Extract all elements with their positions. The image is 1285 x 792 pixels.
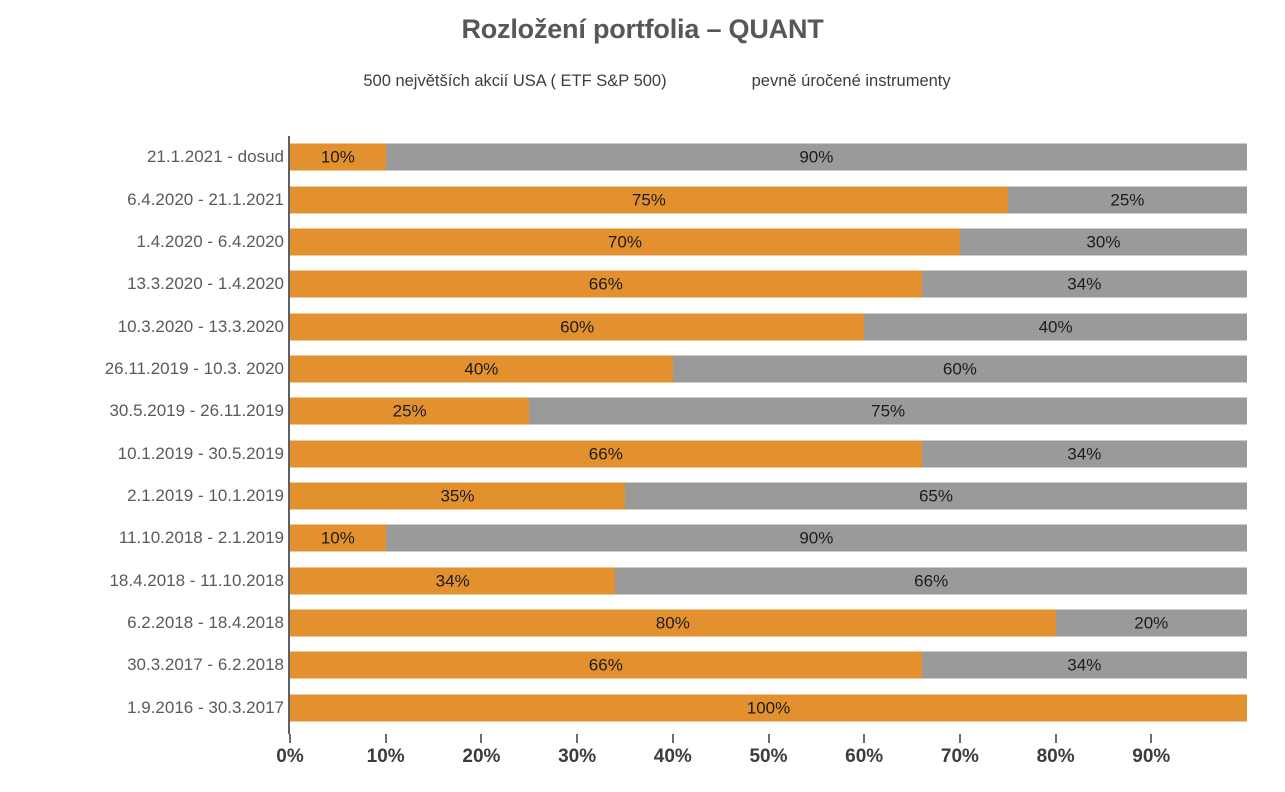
category-label: 1.9.2016 - 30.3.2017 — [127, 698, 284, 718]
stacked-bar: 25%75% — [290, 398, 1247, 425]
x-axis-tick — [289, 734, 291, 743]
value-label-fixed-income: 40% — [1039, 318, 1073, 335]
value-label-equities: 10% — [321, 530, 355, 547]
bar-row: 10.3.2020 - 13.3.202060%40% — [0, 305, 1285, 347]
stacked-bar: 60%40% — [290, 313, 1247, 340]
plot-area: 21.1.2021 - dosud10%90%6.4.2020 - 21.1.2… — [0, 132, 1285, 734]
category-label: 2.1.2019 - 10.1.2019 — [127, 486, 284, 506]
bar-segment-equities[interactable]: 80% — [290, 610, 1056, 637]
bar-segment-equities[interactable]: 10% — [290, 144, 386, 171]
stacked-bar: 100% — [290, 694, 1247, 721]
bar-row: 2.1.2019 - 10.1.201935%65% — [0, 475, 1285, 517]
bar-segment-fixed-income[interactable]: 30% — [960, 228, 1247, 255]
value-label-equities: 66% — [589, 276, 623, 293]
value-label-fixed-income: 30% — [1086, 233, 1120, 250]
x-axis-tick-label: 10% — [367, 746, 405, 768]
bar-row: 30.5.2019 - 26.11.201925%75% — [0, 390, 1285, 432]
bar-segment-equities[interactable]: 75% — [290, 186, 1008, 213]
value-label-fixed-income: 90% — [799, 530, 833, 547]
category-label: 10.1.2019 - 30.5.2019 — [118, 444, 284, 464]
category-label: 21.1.2021 - dosud — [147, 147, 284, 167]
stacked-bar: 10%90% — [290, 525, 1247, 552]
category-label: 1.4.2020 - 6.4.2020 — [137, 232, 284, 252]
value-label-equities: 10% — [321, 149, 355, 166]
bar-segment-equities[interactable]: 66% — [290, 271, 922, 298]
stacked-bar: 70%30% — [290, 228, 1247, 255]
stacked-bar: 66%34% — [290, 652, 1247, 679]
stacked-bar: 66%34% — [290, 271, 1247, 298]
stacked-bar: 66%34% — [290, 440, 1247, 467]
value-label-equities: 66% — [589, 445, 623, 462]
legend-item-fixed-income[interactable]: pevně úročené instrumenty — [723, 72, 951, 91]
chart-title: Rozložení portfolia – QUANT — [0, 14, 1285, 45]
bar-segment-fixed-income[interactable]: 60% — [673, 355, 1247, 382]
x-axis-tick — [1150, 734, 1152, 743]
x-axis-tick — [576, 734, 578, 743]
x-axis-tick-label: 30% — [558, 746, 596, 768]
bar-segment-fixed-income[interactable]: 34% — [922, 652, 1247, 679]
x-axis-tick-label: 80% — [1037, 746, 1075, 768]
x-axis-tick-label: 40% — [654, 746, 692, 768]
x-axis-tick — [385, 734, 387, 743]
bar-segment-fixed-income[interactable]: 65% — [625, 482, 1247, 509]
bar-segment-fixed-income[interactable]: 40% — [864, 313, 1247, 340]
bar-segment-fixed-income[interactable]: 90% — [386, 525, 1247, 552]
category-label: 18.4.2018 - 11.10.2018 — [109, 571, 284, 591]
stacked-bar: 80%20% — [290, 610, 1247, 637]
bar-segment-fixed-income[interactable]: 34% — [922, 271, 1247, 298]
bar-row: 10.1.2019 - 30.5.201966%34% — [0, 432, 1285, 474]
x-axis-tick — [959, 734, 961, 743]
bar-segment-equities[interactable]: 66% — [290, 440, 922, 467]
category-label: 6.4.2020 - 21.1.2021 — [127, 190, 284, 210]
value-label-equities: 34% — [436, 572, 470, 589]
x-axis-tick-label: 70% — [941, 746, 979, 768]
bar-row: 6.2.2018 - 18.4.201880%20% — [0, 602, 1285, 644]
bar-segment-equities[interactable]: 100% — [290, 694, 1247, 721]
value-label-equities: 40% — [464, 360, 498, 377]
value-label-fixed-income: 34% — [1067, 657, 1101, 674]
x-axis-tick — [768, 734, 770, 743]
bar-row: 1.9.2016 - 30.3.2017100% — [0, 687, 1285, 729]
legend-label-fixed-income: pevně úročené instrumenty — [752, 72, 951, 91]
x-axis-tick — [863, 734, 865, 743]
value-label-fixed-income: 66% — [914, 572, 948, 589]
bar-row: 6.4.2020 - 21.1.202175%25% — [0, 178, 1285, 220]
bar-segment-fixed-income[interactable]: 90% — [386, 144, 1247, 171]
value-label-fixed-income: 60% — [943, 360, 977, 377]
x-axis-tick-label: 50% — [749, 746, 787, 768]
value-label-equities: 70% — [608, 233, 642, 250]
bar-segment-fixed-income[interactable]: 25% — [1008, 186, 1247, 213]
category-label: 10.3.2020 - 13.3.2020 — [118, 317, 284, 337]
value-label-equities: 100% — [747, 699, 790, 716]
bar-segment-equities[interactable]: 60% — [290, 313, 864, 340]
category-label: 11.10.2018 - 2.1.2019 — [119, 528, 284, 548]
stacked-bar: 34%66% — [290, 567, 1247, 594]
x-axis-tick-label: 60% — [845, 746, 883, 768]
x-axis-tick — [1055, 734, 1057, 743]
value-label-equities: 60% — [560, 318, 594, 335]
category-label: 26.11.2019 - 10.3. 2020 — [105, 359, 284, 379]
value-label-fixed-income: 65% — [919, 487, 953, 504]
legend-label-equities: 500 největších akcií USA ( ETF S&P 500) — [363, 72, 666, 91]
chart-legend: 500 největších akcií USA ( ETF S&P 500) … — [0, 72, 1285, 91]
stacked-bar: 40%60% — [290, 355, 1247, 382]
bar-segment-equities[interactable]: 10% — [290, 525, 386, 552]
value-label-equities: 75% — [632, 191, 666, 208]
stacked-bar: 75%25% — [290, 186, 1247, 213]
category-label: 6.2.2018 - 18.4.2018 — [127, 613, 284, 633]
x-axis-tick — [480, 734, 482, 743]
stacked-bar: 10%90% — [290, 144, 1247, 171]
bar-row: 1.4.2020 - 6.4.202070%30% — [0, 221, 1285, 263]
value-label-equities: 25% — [393, 403, 427, 420]
bar-segment-equities[interactable]: 70% — [290, 228, 960, 255]
category-label: 30.5.2019 - 26.11.2019 — [109, 401, 284, 421]
bar-segment-fixed-income[interactable]: 75% — [529, 398, 1247, 425]
value-label-fixed-income: 25% — [1110, 191, 1144, 208]
bar-row: 21.1.2021 - dosud10%90% — [0, 136, 1285, 178]
legend-swatch-gray-icon — [723, 72, 742, 91]
bar-segment-fixed-income[interactable]: 20% — [1056, 610, 1247, 637]
bar-row: 18.4.2018 - 11.10.201834%66% — [0, 560, 1285, 602]
bar-row: 26.11.2019 - 10.3. 202040%60% — [0, 348, 1285, 390]
value-label-fixed-income: 90% — [799, 149, 833, 166]
bar-segment-equities[interactable]: 34% — [290, 567, 615, 594]
value-label-fixed-income: 34% — [1067, 445, 1101, 462]
category-label: 30.3.2017 - 6.2.2018 — [127, 655, 284, 675]
value-label-equities: 66% — [589, 657, 623, 674]
value-label-fixed-income: 34% — [1067, 276, 1101, 293]
bar-row: 30.3.2017 - 6.2.201866%34% — [0, 644, 1285, 686]
x-axis: 0%10%20%30%40%50%60%70%80%90% — [0, 734, 1285, 792]
bar-segment-fixed-income[interactable]: 66% — [615, 567, 1247, 594]
value-label-fixed-income: 20% — [1134, 615, 1168, 632]
bar-row: 13.3.2020 - 1.4.202066%34% — [0, 263, 1285, 305]
value-label-fixed-income: 75% — [871, 403, 905, 420]
category-label: 13.3.2020 - 1.4.2020 — [127, 274, 284, 294]
bar-segment-fixed-income[interactable]: 34% — [922, 440, 1247, 467]
legend-swatch-orange-icon — [334, 72, 353, 91]
chart-container: Rozložení portfolia – QUANT 500 největší… — [0, 0, 1285, 792]
bar-segment-equities[interactable]: 25% — [290, 398, 529, 425]
bar-row: 11.10.2018 - 2.1.201910%90% — [0, 517, 1285, 559]
bar-segment-equities[interactable]: 35% — [290, 482, 625, 509]
x-axis-tick — [672, 734, 674, 743]
value-label-equities: 80% — [656, 615, 690, 632]
stacked-bar: 35%65% — [290, 482, 1247, 509]
x-axis-tick-label: 20% — [462, 746, 500, 768]
legend-item-equities[interactable]: 500 největších akcií USA ( ETF S&P 500) — [334, 72, 666, 91]
x-axis-tick-label: 90% — [1132, 746, 1170, 768]
bar-segment-equities[interactable]: 40% — [290, 355, 673, 382]
x-axis-tick-label: 0% — [276, 746, 303, 768]
bar-segment-equities[interactable]: 66% — [290, 652, 922, 679]
value-label-equities: 35% — [440, 487, 474, 504]
